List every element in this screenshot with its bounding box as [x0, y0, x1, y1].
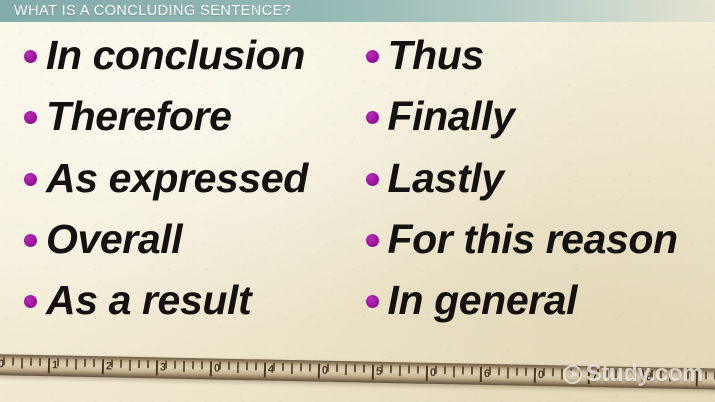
ruler-tick: [147, 360, 149, 368]
ruler-tick: [66, 359, 68, 367]
ruler-tick: [453, 366, 455, 377]
list-item: Thus: [366, 26, 715, 87]
ruler-tick: [543, 368, 545, 376]
list-item-label: Lastly: [388, 158, 504, 199]
ruler-tick: [417, 366, 419, 374]
slide-title-bar: WHAT IS A CONCLUDING SENTENCE?: [0, 0, 715, 22]
ruler-tick: [390, 365, 392, 373]
ruler-tick: [228, 362, 230, 370]
study-com-watermark: Study.com: [563, 360, 703, 388]
ruler-tick: [246, 362, 248, 370]
bullet-column-right: Thus Finally Lastly For this reason In g…: [358, 22, 715, 332]
ruler-tick: [516, 368, 518, 376]
ruler-tick: [102, 359, 104, 374]
ruler-tick: [3, 357, 5, 365]
ruler-tick: [192, 361, 194, 369]
list-item: In general: [366, 271, 715, 332]
bullet-dot-icon: [366, 111, 379, 124]
ruler-tick: [435, 366, 437, 374]
ruler-tick: [300, 363, 302, 371]
ruler-tick: [84, 359, 86, 367]
list-item: Overall: [24, 210, 358, 271]
ruler-tick: [354, 364, 356, 372]
ruler-tick: [129, 360, 131, 371]
watermark-label: Study.com: [586, 360, 703, 388]
list-item-label: For this reason: [388, 219, 678, 260]
list-item-label: As a result: [46, 280, 251, 321]
list-item-label: In conclusion: [46, 35, 305, 76]
bullet-dot-icon: [366, 295, 379, 308]
list-item-label: In general: [388, 280, 578, 321]
ruler-tick: [534, 368, 536, 383]
list-item: As a result: [24, 271, 358, 332]
ruler-tick: [318, 364, 320, 379]
ruler-tick: [336, 364, 338, 372]
ruler-tick: [219, 362, 221, 370]
ruler-tick: [282, 363, 284, 371]
ruler-tick: [327, 364, 329, 372]
ruler-tick: [183, 361, 185, 372]
ruler-tick: [138, 360, 140, 368]
ruler-tick: [552, 368, 554, 376]
bullet-dot-icon: [366, 234, 379, 247]
ruler-tick: [363, 364, 365, 372]
ruler-tick: [75, 359, 77, 370]
ruler-tick: [480, 367, 482, 382]
ruler-tick: [21, 358, 23, 369]
bullet-dot-icon: [366, 173, 379, 186]
list-item: Finally: [366, 87, 715, 148]
ruler-tick: [165, 361, 167, 369]
ruler-tick: [174, 361, 176, 369]
list-item: In conclusion: [24, 26, 358, 87]
list-item: Therefore: [24, 87, 358, 148]
ruler-tick: [48, 358, 50, 373]
ruler-tick: [57, 358, 59, 366]
play-circle-icon: [563, 365, 582, 384]
list-item-label: Overall: [46, 219, 182, 260]
ruler-tick: [507, 367, 509, 378]
page-title: WHAT IS A CONCLUDING SENTENCE?: [14, 3, 291, 19]
ruler-tick: [156, 360, 158, 375]
bullet-columns: In conclusion Therefore As expressed Ove…: [0, 22, 715, 332]
ruler-tick: [372, 365, 374, 380]
ruler-tick: [408, 365, 410, 373]
ruler-tick: [120, 360, 122, 368]
ruler-tick: [264, 363, 266, 378]
ruler-tick: [12, 357, 14, 365]
ruler-tick: [210, 361, 212, 376]
ruler-tick: [345, 364, 347, 375]
ruler-tick: [381, 365, 383, 373]
ruler-tick: [39, 358, 41, 366]
ruler-tick: [201, 361, 203, 369]
list-item-label: Thus: [388, 35, 484, 76]
ruler-tick: [237, 362, 239, 373]
slide-canvas: WHAT IS A CONCLUDING SENTENCE? In conclu…: [0, 0, 715, 402]
ruler-tick: [399, 365, 401, 376]
ruler-tick: [255, 362, 257, 370]
ruler-tick: [426, 366, 428, 381]
ruler-tick: [273, 363, 275, 371]
ruler-tick: [525, 368, 527, 376]
list-item-label: Finally: [388, 96, 515, 137]
bullet-dot-icon: [24, 111, 37, 124]
bullet-dot-icon: [366, 50, 379, 63]
list-item: For this reason: [366, 210, 715, 271]
ruler-tick: [471, 367, 473, 375]
ruler-tick: [489, 367, 491, 375]
ruler-tick: [309, 363, 311, 371]
bullet-dot-icon: [24, 234, 37, 247]
ruler-tick: [444, 366, 446, 374]
list-item: As expressed: [24, 148, 358, 209]
bullet-dot-icon: [24, 295, 37, 308]
ruler-tick: [705, 371, 707, 379]
ruler-tick: [498, 367, 500, 375]
ruler-tick: [462, 366, 464, 374]
list-item-label: As expressed: [46, 158, 308, 199]
bullet-column-left: In conclusion Therefore As expressed Ove…: [0, 22, 358, 332]
ruler-tick: [291, 363, 293, 374]
ruler-tick: [30, 358, 32, 366]
list-item-label: Therefore: [46, 96, 232, 137]
bullet-dot-icon: [24, 50, 37, 63]
list-item: Lastly: [366, 148, 715, 209]
ruler-tick: [111, 359, 113, 367]
ruler-tick: [93, 359, 95, 367]
bullet-dot-icon: [24, 173, 37, 186]
